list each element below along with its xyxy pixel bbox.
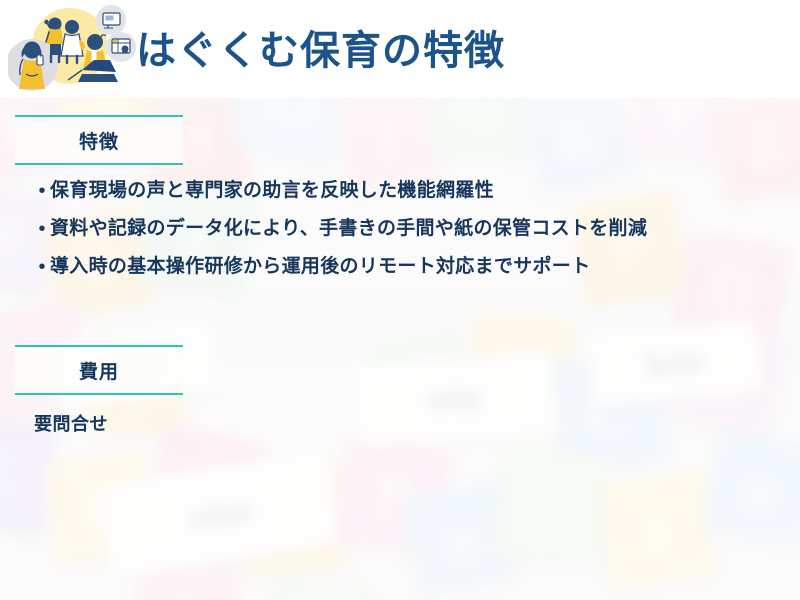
bullet-text: 導入時の基本操作研修から運用後のリモート対応までサポート [50,254,590,280]
bullet-dot-icon: • [34,216,50,242]
list-item: • 導入時の基本操作研修から運用後のリモート対応までサポート [34,254,774,280]
list-item: • 保育現場の声と専門家の助言を反映した機能網羅性 [34,178,774,204]
page-title: はぐくむ保育の特徴 [136,18,505,76]
cost-value: 要問合せ [34,410,108,436]
bullet-text: 資料や記録のデータ化により、手書きの手間や紙の保管コストを削減 [50,216,647,242]
bullet-dot-icon: • [34,254,50,280]
section-cost: 費用 [15,345,183,395]
section-header-features: 特徴 [15,115,183,165]
features-bullet-list: • 保育現場の声と専門家の助言を反映した機能網羅性 • 資料や記録のデータ化によ… [34,178,774,292]
slide: R a J O ! G K V E N b i P D A T V T C D … [0,0,800,600]
list-item: • 資料や記録のデータ化により、手書きの手間や紙の保管コストを削減 [34,216,774,242]
section-features: 特徴 [15,115,183,165]
bullet-dot-icon: • [34,178,50,204]
section-header-cost: 費用 [15,345,183,395]
section-label-features: 特徴 [79,127,119,154]
header-band: はぐくむ保育の特徴 [0,0,800,98]
bullet-text: 保育現場の声と専門家の助言を反映した機能網羅性 [50,178,494,204]
childcare-people-laptop-illustration [8,2,136,96]
section-label-cost: 費用 [79,357,119,384]
